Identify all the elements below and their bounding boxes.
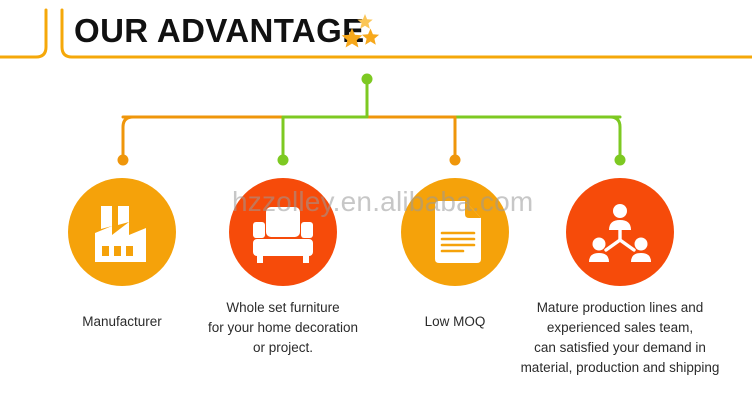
icon-circle-4 bbox=[566, 178, 674, 286]
branch-dot-icon-1 bbox=[118, 155, 129, 166]
advantage-card-team[interactable]: Mature production lines and experienced … bbox=[500, 178, 740, 378]
stars-icon bbox=[341, 12, 387, 52]
document-icon bbox=[401, 178, 509, 286]
branch-leg-1 bbox=[123, 117, 133, 157]
header: OUR ADVANTAGE bbox=[0, 0, 752, 62]
branch-dot-icon-4 bbox=[615, 155, 626, 166]
branch-dot-icon-3 bbox=[450, 155, 461, 166]
icon-circle-1 bbox=[68, 178, 176, 286]
sofa-icon bbox=[229, 178, 337, 286]
advantage-banner: OUR ADVANTAGE bbox=[0, 0, 752, 406]
team-org-icon bbox=[566, 178, 674, 286]
connector-tree bbox=[0, 62, 752, 174]
page-title: OUR ADVANTAGE bbox=[74, 12, 365, 50]
advantage-cards: Manufacturer bbox=[0, 178, 752, 406]
branch-leg-4 bbox=[610, 117, 620, 157]
icon-circle-2 bbox=[229, 178, 337, 286]
root-node-dot-icon bbox=[362, 74, 373, 85]
factory-icon bbox=[68, 178, 176, 286]
icon-circle-3 bbox=[401, 178, 509, 286]
card-caption-4: Mature production lines and experienced … bbox=[500, 298, 740, 378]
branch-dot-icon-2 bbox=[278, 155, 289, 166]
